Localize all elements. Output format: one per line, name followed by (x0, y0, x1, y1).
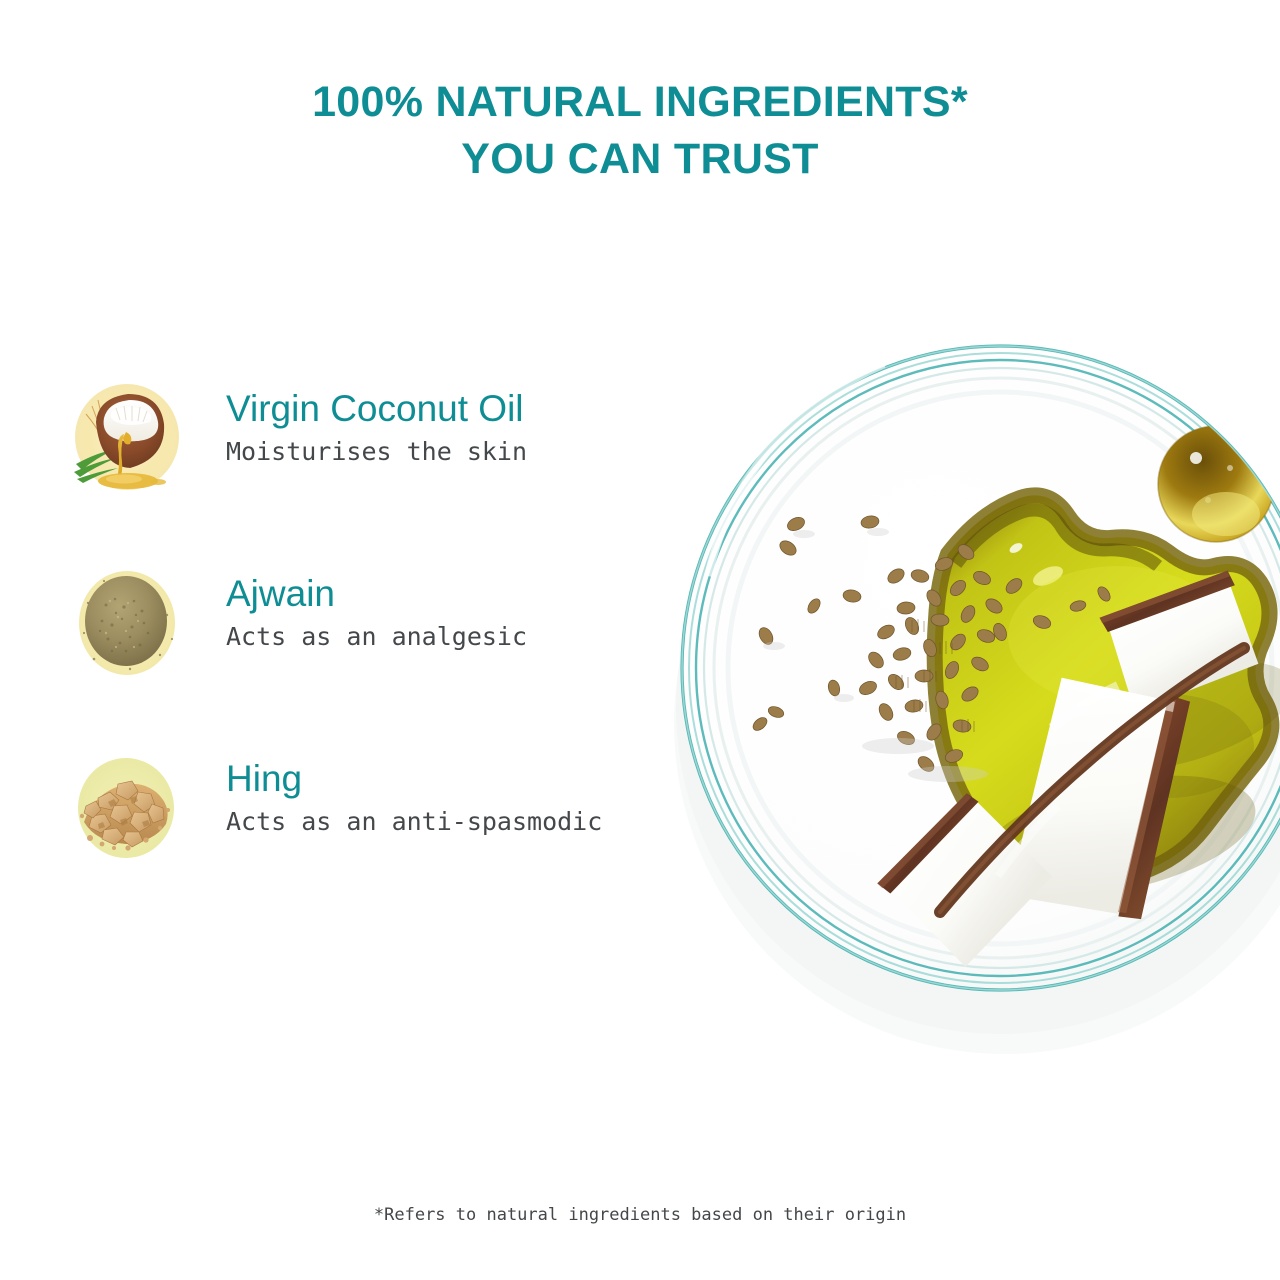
list-item: Virgin Coconut Oil Moisturises the skin (62, 378, 682, 498)
petri-dish-ingredients-photo (648, 276, 1280, 1136)
ingredient-text: Hing Acts as an anti-spasmodic (226, 756, 602, 842)
infographic-page: 100% NATURAL INGREDIENTS* YOU CAN TRUST (0, 0, 1280, 1280)
coconut-half-with-oil-icon (68, 378, 186, 496)
headline-line-1: 100% NATURAL INGREDIENTS* (0, 74, 1280, 131)
hing-asafoetida-powder-icon (68, 748, 186, 866)
list-item: Ajwain Acts as an analgesic (62, 563, 682, 683)
ingredient-description: Moisturises the skin (226, 432, 527, 472)
ingredient-name: Virgin Coconut Oil (226, 386, 527, 432)
ingredient-list: Virgin Coconut Oil Moisturises the skin (62, 378, 682, 933)
ingredient-name: Ajwain (226, 571, 527, 617)
headline-line-2: YOU CAN TRUST (0, 131, 1280, 188)
footnote-text: *Refers to natural ingredients based on … (0, 1205, 1280, 1225)
ajwain-seed-powder-icon (68, 563, 186, 681)
ingredient-name: Hing (226, 756, 602, 802)
page-title: 100% NATURAL INGREDIENTS* YOU CAN TRUST (0, 74, 1280, 188)
list-item: Hing Acts as an anti-spasmodic (62, 748, 682, 868)
ingredient-text: Ajwain Acts as an analgesic (226, 571, 527, 657)
ingredient-description: Acts as an anti-spasmodic (226, 802, 602, 842)
ingredient-text: Virgin Coconut Oil Moisturises the skin (226, 386, 527, 472)
ingredient-description: Acts as an analgesic (226, 617, 527, 657)
